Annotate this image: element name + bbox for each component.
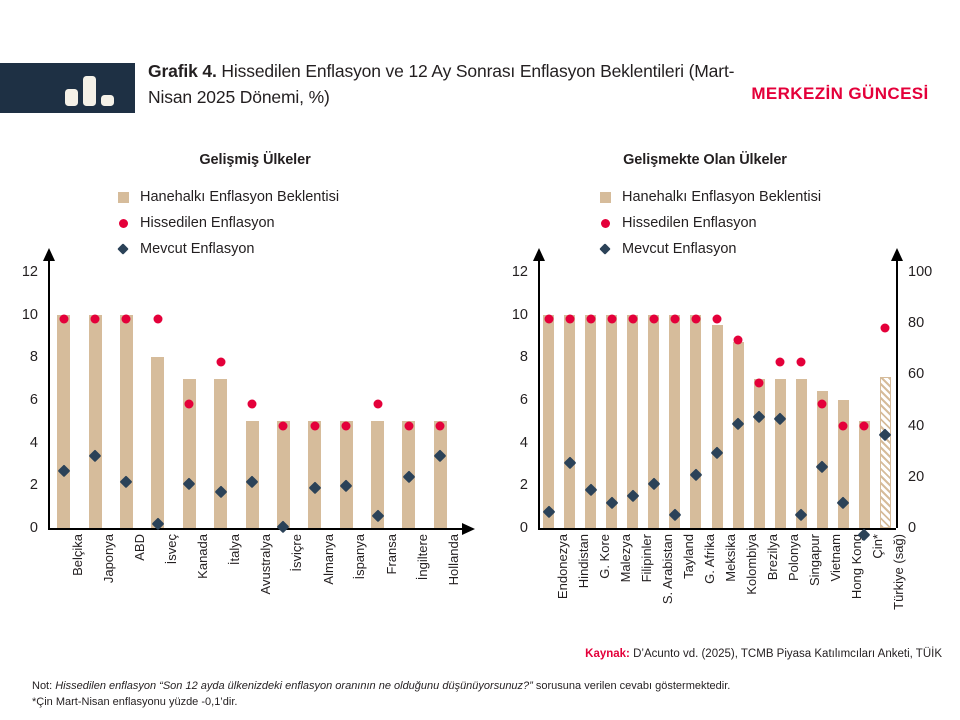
legend-item-bar: Hanehalkı Enflasyon Beklentisi — [600, 184, 821, 210]
legend-bar-label: Hanehalkı Enflasyon Beklentisi — [140, 189, 339, 205]
perceived-inflation-point — [436, 421, 445, 430]
page-title-prefix: Grafik 4. — [148, 61, 217, 81]
x-axis-tick-label: İsveç — [164, 534, 179, 564]
x-axis-tick-label: İspanya — [352, 534, 367, 580]
x-axis-tick-label: İtalya — [227, 534, 242, 565]
bar — [340, 421, 353, 528]
legend-item-diamond: Mevcut Enflasyon — [118, 236, 339, 262]
perceived-inflation-point — [776, 357, 785, 366]
x-axis-tick-label: Türkiye (sağ) — [891, 534, 906, 610]
bar — [214, 379, 227, 528]
x-axis-tick-label: Filipinler — [639, 534, 654, 582]
bar — [838, 400, 849, 528]
x-axis-line — [48, 528, 464, 530]
x-axis-tick-label: Polonya — [786, 534, 801, 581]
perceived-inflation-point — [59, 315, 68, 324]
plot-area-left: 024681012BelçikaJaponyaABDİsveçKanadaİta… — [48, 272, 456, 528]
x-axis-tick-label: Hollanda — [446, 534, 461, 585]
y2-axis-arrow-icon — [891, 248, 903, 261]
bar — [277, 421, 290, 528]
perceived-inflation-point — [818, 400, 827, 409]
y-axis-tick-label: 8 — [0, 349, 38, 365]
note-line-1: Not: Hissedilen enflasyon “Son 12 ayda ü… — [32, 678, 932, 694]
perceived-inflation-point — [586, 315, 595, 324]
perceived-inflation-point — [713, 315, 722, 324]
bar — [57, 315, 70, 528]
legend-left: Hanehalkı Enflasyon Beklentisi Hissedile… — [118, 184, 339, 262]
perceived-inflation-point — [216, 357, 225, 366]
y-axis-tick-label: 2 — [0, 477, 38, 493]
perceived-inflation-point — [628, 315, 637, 324]
page-title: Grafik 4. Hissedilen Enflasyon ve 12 Ay … — [148, 58, 738, 110]
plot-area-right: 024681012020406080100EndonezyaHindistanG… — [538, 272, 896, 528]
y2-axis-tick-label: 0 — [908, 520, 952, 536]
y-axis-tick-label: 4 — [488, 435, 528, 451]
bar — [817, 391, 828, 528]
bar-chart-logo-icon — [0, 63, 135, 113]
y2-axis-tick-label: 60 — [908, 366, 952, 382]
x-axis-tick-label: Hong Kong — [849, 534, 864, 599]
x-axis-tick-label: Endonezya — [555, 534, 570, 599]
chart-panel-advanced-economies: Gelişmiş Ülkeler Hanehalkı Enflasyon Bek… — [0, 140, 480, 640]
bar — [543, 315, 554, 528]
y2-axis-tick-label: 80 — [908, 315, 952, 331]
x-axis-tick-label: Meksika — [723, 534, 738, 582]
y2-axis-tick-label: 100 — [908, 264, 952, 280]
x-axis-tick-label: Kolombiya — [744, 534, 759, 595]
perceived-inflation-point — [839, 421, 848, 430]
x-axis-tick-label: Almanya — [321, 534, 336, 585]
y-axis-arrow-icon — [43, 248, 55, 261]
chart-panel-emerging-economies: Gelişmekte Olan Ülkeler Hanehalkı Enflas… — [480, 140, 960, 640]
perceived-inflation-point — [279, 421, 288, 430]
bar — [733, 342, 744, 528]
perceived-inflation-point — [565, 315, 574, 324]
perceived-inflation-point — [91, 315, 100, 324]
y-axis-tick-label: 8 — [488, 349, 528, 365]
perceived-inflation-point — [860, 421, 869, 430]
perceived-inflation-point — [649, 315, 658, 324]
y-axis-tick-label: 12 — [488, 264, 528, 280]
legend-diamond-swatch-icon — [600, 245, 622, 253]
note-line-2: *Çin Mart-Nisan enflasyonu yüzde -0,1’di… — [32, 694, 932, 710]
y2-axis-line — [896, 258, 898, 528]
note-block: Not: Hissedilen enflasyon “Son 12 ayda ü… — [32, 678, 932, 710]
x-axis-tick-label: Brezilya — [765, 534, 780, 580]
bar — [648, 315, 659, 528]
legend-bar-swatch-icon — [600, 192, 622, 203]
y2-axis-tick-label: 40 — [908, 418, 952, 434]
perceived-inflation-point — [797, 357, 806, 366]
y-axis-tick-label: 10 — [0, 307, 38, 323]
x-axis-tick-label: S. Arabistan — [660, 534, 675, 604]
bar — [308, 421, 321, 528]
perceived-inflation-point — [248, 400, 257, 409]
brand-logo-text: MERKEZİN GÜNCESİ — [730, 84, 950, 104]
legend-dot-swatch-icon — [600, 219, 622, 228]
y-axis-tick-label: 6 — [0, 392, 38, 408]
x-axis-tick-label: İngiltere — [415, 534, 430, 580]
legend-diamond-label: Mevcut Enflasyon — [140, 241, 254, 257]
legend-diamond-swatch-icon — [118, 245, 140, 253]
perceived-inflation-point — [544, 315, 553, 324]
x-axis-tick-label: Vietnam — [828, 534, 843, 581]
perceived-inflation-point — [734, 336, 743, 345]
bar — [89, 315, 102, 528]
y-axis-tick-label: 0 — [0, 520, 38, 536]
bar — [754, 379, 765, 528]
x-axis-tick-label: Tayland — [681, 534, 696, 579]
perceived-inflation-point — [404, 421, 413, 430]
source-text: D’Acunto vd. (2025), TCMB Piyasa Katılım… — [630, 648, 942, 660]
x-axis-tick-label: Singapur — [807, 534, 822, 586]
x-axis-tick-label: Belçika — [70, 534, 85, 576]
legend-item-bar: Hanehalkı Enflasyon Beklentisi — [118, 184, 339, 210]
bar — [690, 315, 701, 528]
note-suffix: sorusuna verilen cevabı göstermektedir. — [533, 680, 731, 692]
y-axis-line — [538, 258, 540, 528]
perceived-inflation-point — [153, 315, 162, 324]
source-line: Kaynak: D’Acunto vd. (2025), TCMB Piyasa… — [0, 648, 942, 660]
y-axis-arrow-icon — [533, 248, 545, 261]
x-axis-tick-label: ABD — [132, 534, 147, 561]
bar — [880, 377, 891, 528]
perceived-inflation-point — [373, 400, 382, 409]
y-axis-tick-label: 4 — [0, 435, 38, 451]
x-axis-tick-label: Kanada — [195, 534, 210, 579]
x-axis-arrow-icon — [462, 523, 475, 535]
panel-title-right: Gelişmekte Olan Ülkeler — [480, 152, 960, 168]
perceived-inflation-point — [881, 323, 890, 332]
x-axis-tick-label: Çin* — [870, 534, 885, 559]
x-axis-tick-label: Japonya — [101, 534, 116, 583]
bar — [669, 315, 680, 528]
bar — [585, 315, 596, 528]
x-axis-tick-label: G. Kore — [597, 534, 612, 579]
perceived-inflation-point — [185, 400, 194, 409]
y2-axis-tick-label: 20 — [908, 469, 952, 485]
legend-right: Hanehalkı Enflasyon Beklentisi Hissedile… — [600, 184, 821, 262]
y-axis-tick-label: 2 — [488, 477, 528, 493]
legend-diamond-label: Mevcut Enflasyon — [622, 241, 736, 257]
y-axis-tick-label: 6 — [488, 392, 528, 408]
y-axis-tick-label: 10 — [488, 307, 528, 323]
y-axis-tick-label: 0 — [488, 520, 528, 536]
note-prefix: Not: — [32, 680, 55, 692]
x-axis-tick-label: G. Afrika — [702, 534, 717, 584]
bar — [434, 421, 447, 528]
bar — [712, 325, 723, 528]
perceived-inflation-point — [607, 315, 616, 324]
legend-bar-label: Hanehalkı Enflasyon Beklentisi — [622, 189, 821, 205]
legend-bar-swatch-icon — [118, 192, 140, 203]
bar — [120, 315, 133, 528]
bar — [796, 379, 807, 528]
x-axis-tick-label: Avustralya — [258, 534, 273, 594]
perceived-inflation-point — [310, 421, 319, 430]
legend-dot-label: Hissedilen Enflasyon — [140, 215, 275, 231]
bar — [775, 379, 786, 528]
panel-title-left: Gelişmiş Ülkeler — [0, 152, 480, 168]
bar — [859, 421, 870, 528]
perceived-inflation-point — [691, 315, 700, 324]
legend-item-dot: Hissedilen Enflasyon — [600, 210, 821, 236]
y-axis-line — [48, 258, 50, 528]
bar — [151, 357, 164, 528]
legend-dot-label: Hissedilen Enflasyon — [622, 215, 757, 231]
legend-item-diamond: Mevcut Enflasyon — [600, 236, 821, 262]
note-question: Hissedilen enflasyon “Son 12 ayda ülkeni… — [55, 680, 533, 692]
legend-dot-swatch-icon — [118, 219, 140, 228]
x-axis-tick-label: Fransa — [384, 534, 399, 574]
perceived-inflation-point — [755, 379, 764, 388]
perceived-inflation-point — [122, 315, 131, 324]
legend-item-dot: Hissedilen Enflasyon — [118, 210, 339, 236]
x-axis-tick-label: Hindistan — [576, 534, 591, 588]
perceived-inflation-point — [342, 421, 351, 430]
perceived-inflation-point — [670, 315, 679, 324]
y-axis-tick-label: 12 — [0, 264, 38, 280]
x-axis-tick-label: İsviçre — [289, 534, 304, 572]
page-title-rest: Hissedilen Enflasyon ve 12 Ay Sonrası En… — [148, 61, 734, 107]
x-axis-line — [538, 528, 896, 530]
x-axis-tick-label: Malezya — [618, 534, 633, 582]
source-label: Kaynak: — [585, 648, 630, 660]
bar — [564, 315, 575, 528]
